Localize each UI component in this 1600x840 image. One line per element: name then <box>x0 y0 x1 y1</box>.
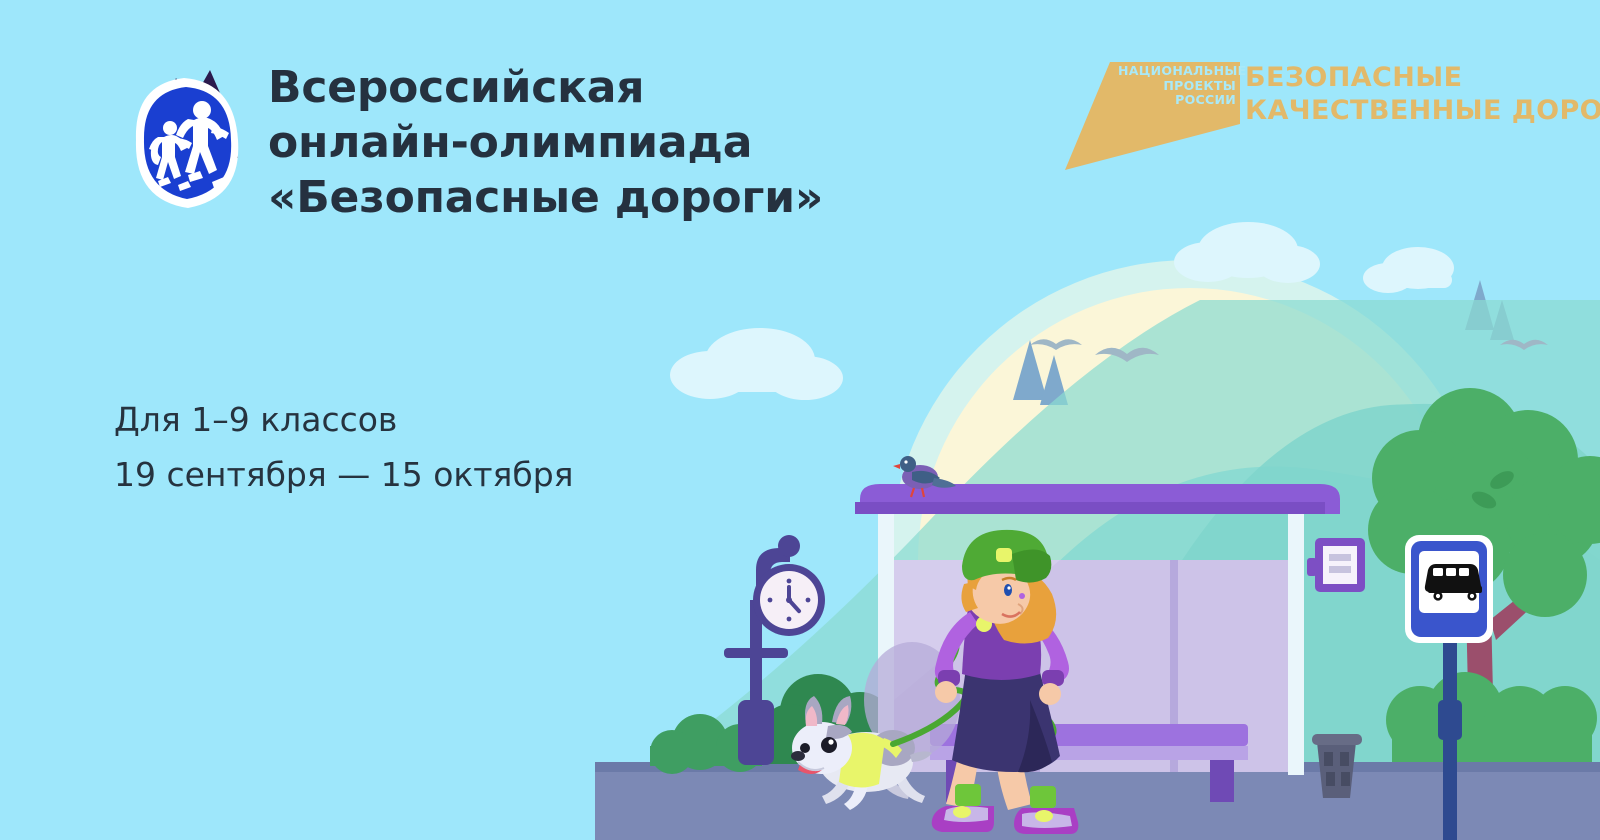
date-range: 19 сентября — 15 октября <box>114 447 674 502</box>
info-panel-line-1 <box>1329 554 1351 561</box>
program-title-line-2: КАЧЕСТВЕННЫЕ ДОРОГИ <box>1245 94 1600 127</box>
page-title: Всероссийская онлайн-олимпиада «Безопасн… <box>268 60 1008 225</box>
title-line-1: Всероссийская <box>268 60 1008 115</box>
flag-line-1: НАЦИОНАЛЬНЫЕ <box>1118 64 1236 79</box>
girl-eye-highlight <box>1007 586 1010 589</box>
girl-sock-front <box>1030 786 1056 808</box>
girl-eye <box>1004 584 1012 596</box>
girl-earring <box>1019 593 1025 599</box>
clock-pole-collar <box>724 648 788 658</box>
dog-eye-right <box>821 737 837 753</box>
title-line-2: онлайн-олимпиада <box>268 115 1008 170</box>
girl-shoe-front-detail <box>1035 810 1053 822</box>
pedestrian-crossing-logo <box>118 58 258 228</box>
girl-hat-patch <box>996 548 1012 562</box>
clock-tick-12 <box>787 579 792 584</box>
grades-range: Для 1–9 классов <box>114 392 674 447</box>
dog-nose <box>791 751 805 761</box>
info-panel <box>1307 538 1365 592</box>
bin-rim <box>1312 734 1362 745</box>
flag-line-2: ПРОЕКТЫ <box>1118 79 1236 94</box>
sign-pole-base <box>1438 700 1462 740</box>
bin-body <box>1317 742 1356 798</box>
event-details: Для 1–9 классов 19 сентября — 15 октября <box>114 392 674 502</box>
shelter-post-right <box>1288 500 1304 775</box>
info-panel-sheet <box>1323 546 1357 584</box>
clock-center <box>786 597 792 603</box>
national-projects-branding: НАЦИОНАЛЬНЫЕ ПРОЕКТЫ РОССИИ БЕЗОПАСНЫЕ К… <box>1040 52 1585 172</box>
pigeon-head <box>900 456 916 472</box>
dog-eye-left <box>800 743 810 753</box>
olympiad-promo-banner: Всероссийская онлайн-олимпиада «Безопасн… <box>0 0 1600 840</box>
program-title-line-1: БЕЗОПАСНЫЕ <box>1245 61 1600 94</box>
girl-hand-back <box>935 681 957 703</box>
pigeon-eye <box>904 460 907 463</box>
girl-shoe-back-detail <box>953 806 971 818</box>
girl-sock-back <box>955 784 981 806</box>
clock-arm-knob <box>778 535 800 557</box>
flag-line-3: РОССИИ <box>1118 93 1236 108</box>
clock-tick-6 <box>787 617 792 622</box>
title-line-3: «Безопасные дороги» <box>268 170 1008 225</box>
national-projects-flag-text: НАЦИОНАЛЬНЫЕ ПРОЕКТЫ РОССИИ <box>1118 64 1236 108</box>
shelter-roof-shade <box>855 502 1345 516</box>
bench-leg-right <box>1210 760 1234 802</box>
girl-hat-fold <box>1012 549 1051 582</box>
clock-tick-3 <box>806 598 811 603</box>
girl-hand-front <box>1039 683 1061 705</box>
program-title: БЕЗОПАСНЫЕ КАЧЕСТВЕННЫЕ ДОРОГИ <box>1245 61 1600 127</box>
info-panel-line-2 <box>1329 566 1351 573</box>
dog-eye-highlight <box>828 739 833 744</box>
clock-pole-base <box>738 700 774 765</box>
clock-tick-9 <box>768 598 773 603</box>
